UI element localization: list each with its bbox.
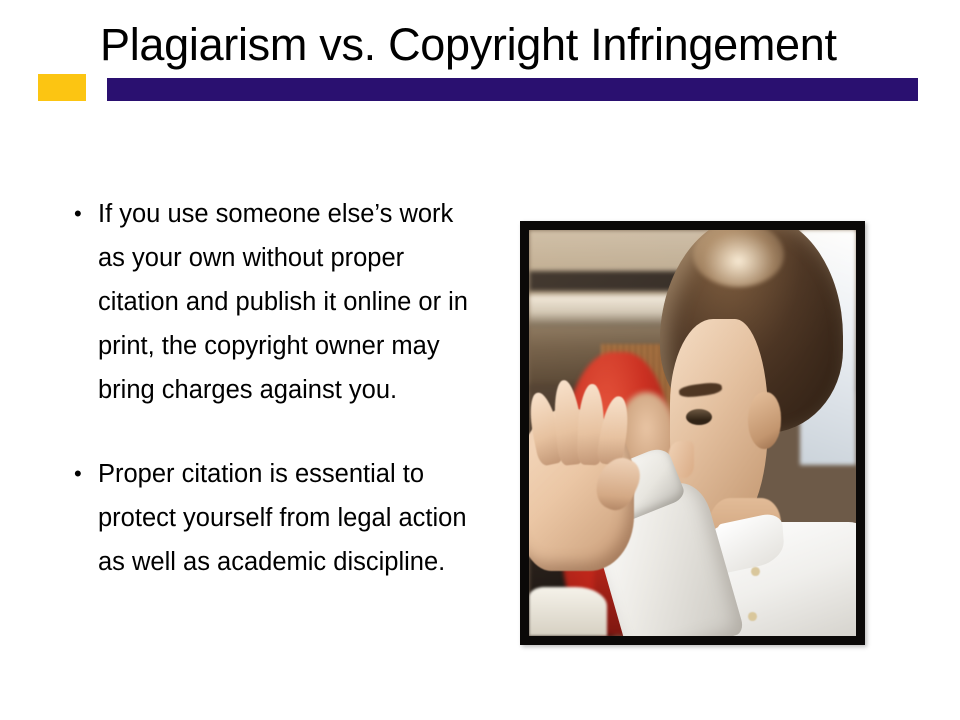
photo-subject-eye bbox=[686, 409, 712, 425]
student-speaking-photo bbox=[520, 221, 865, 645]
bullet-point-icon: • bbox=[74, 452, 92, 496]
page-title: Plagiarism vs. Copyright Infringement bbox=[100, 18, 900, 72]
photo-canvas bbox=[529, 230, 856, 636]
list-item: • If you use someone else’s work as your… bbox=[66, 192, 486, 412]
bullet-list: • If you use someone else’s work as your… bbox=[66, 192, 486, 584]
photo-foreground-paper bbox=[529, 587, 607, 636]
yellow-accent-square bbox=[38, 74, 86, 101]
list-item: • Proper citation is essential to protec… bbox=[66, 452, 486, 584]
bullet-text: If you use someone else’s work as your o… bbox=[98, 192, 486, 412]
purple-title-rule bbox=[107, 78, 918, 101]
slide: Plagiarism vs. Copyright Infringement • … bbox=[0, 0, 960, 720]
photo-subject-shirt-button bbox=[748, 612, 757, 621]
photo-subject-shirt-button bbox=[751, 567, 760, 576]
photo-subject-ear bbox=[748, 392, 781, 449]
bullet-point-icon: • bbox=[74, 192, 92, 236]
bullet-text: Proper citation is essential to protect … bbox=[98, 452, 486, 584]
